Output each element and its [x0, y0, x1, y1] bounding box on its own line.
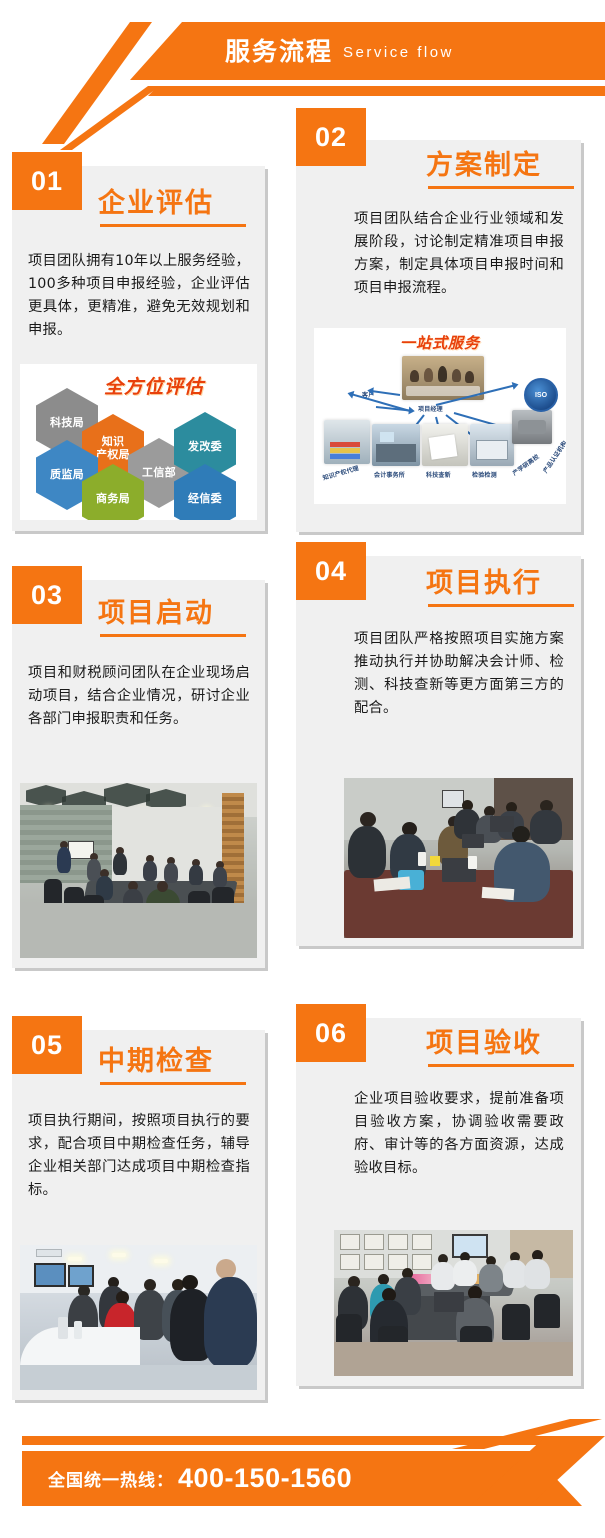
- step-badge-01: 01: [12, 152, 82, 210]
- page-footer: 全国统一热线： 400-150-1560: [0, 1418, 605, 1538]
- card-title-rule-03: [100, 634, 246, 637]
- card-title-rule-02: [428, 186, 574, 189]
- hotline-label: 全国统一热线：: [48, 1466, 174, 1491]
- service-flow-infographic: 服务流程 Service flow 企业评估 项目团队拥有10年以上服务经验，1…: [0, 0, 605, 1538]
- page-subtitle: Service flow: [343, 45, 454, 60]
- card-body-03: 项目和财税顾问团队在企业现场启动项目，结合企业情况，研讨企业各部门申报职责和任务…: [28, 662, 250, 731]
- card-body-04: 项目团队严格按照项目实施方案推动执行并协助解决会计师、检测、科技查新等更方面第三…: [354, 628, 564, 721]
- hexagon-node-label: 质监局: [50, 469, 84, 482]
- hexagon-node-label: 经信委: [188, 493, 222, 506]
- hexagon-node-label: 科技局: [50, 417, 84, 430]
- collage-label-4: 产学研高校: [510, 452, 540, 478]
- collage-label-1: 会计事务所: [374, 470, 405, 479]
- collage-node-search: [422, 424, 468, 466]
- collage-label-3: 检验检测: [472, 470, 497, 479]
- step-card-05: 中期检查 项目执行期间，按照项目执行的要求，配合项目中期检查任务，辅导企业相关部…: [12, 1030, 265, 1400]
- header-title-group: 服务流程 Service flow: [225, 30, 454, 74]
- card-body-06: 企业项目验收要求，提前准备项目验收方案，协调验收需要政府、审计等的各方面资源，达…: [354, 1088, 564, 1181]
- step-card-01: 企业评估 项目团队拥有10年以上服务经验，100多种项目申报经验，企业评估更具体…: [12, 166, 265, 531]
- step-card-04: 项目执行 项目团队严格按照项目实施方案推动执行并协助解决会计师、检测、科技查新等…: [296, 556, 581, 946]
- photo-site-inspection: [20, 1245, 257, 1390]
- card-title-05: 中期检查: [98, 1048, 214, 1075]
- card-title-01: 企业评估: [98, 190, 214, 217]
- photo-acceptance-meeting: [334, 1230, 573, 1376]
- collage-label-manager: 项目经理: [418, 404, 443, 413]
- page-header: 服务流程 Service flow: [0, 0, 605, 110]
- collage-node-certification-seal: ISO: [524, 378, 558, 412]
- page-title: 服务流程: [225, 40, 333, 65]
- step-card-06: 项目验收 企业项目验收要求，提前准备项目验收方案，协调验收需要政府、审计等的各方…: [296, 1018, 581, 1386]
- header-accent-stripe: [148, 86, 605, 96]
- collage-label-0: 知识产权代理: [321, 463, 359, 482]
- step-card-03: 项目启动 项目和财税顾问团队在企业现场启动项目，结合企业情况，研讨企业各部门申报…: [12, 580, 265, 968]
- hexagon-node-label: 发改委: [188, 441, 222, 454]
- card-body-01: 项目团队拥有10年以上服务经验，100多种项目申报经验，企业评估更具体，更精准，…: [28, 250, 250, 343]
- collage-node-university: [512, 410, 552, 444]
- hexagon-node-label: 商务局: [96, 493, 130, 506]
- card-title-rule-05: [100, 1082, 246, 1085]
- card-title-rule-06: [428, 1064, 574, 1067]
- seal-text: ISO: [535, 392, 547, 399]
- step-card-02: 方案制定 项目团队结合企业行业领域和发展阶段，讨论制定精准项目申报方案，制定具体…: [296, 140, 581, 532]
- card-title-02: 方案制定: [426, 152, 542, 179]
- collage-node-ip: [324, 420, 370, 464]
- step-badge-06: 06: [296, 1004, 366, 1062]
- collage-arrow: [372, 390, 400, 396]
- collage-node-accounting: [372, 424, 420, 466]
- hotline-group: 全国统一热线： 400-150-1560: [48, 1451, 352, 1506]
- collage-label-2: 科技查新: [426, 470, 451, 479]
- hexagon-node-label: 知识 产权局: [96, 436, 130, 461]
- step-badge-04: 04: [296, 542, 366, 600]
- step-badge-03: 03: [12, 566, 82, 624]
- hexagon-chart-title: 全方位评估: [104, 372, 204, 399]
- card-title-rule-01: [100, 224, 246, 227]
- one-stop-service-collage: 一站式服务 客户 项目经理: [314, 328, 566, 504]
- card-title-04: 项目执行: [426, 570, 542, 597]
- card-body-02: 项目团队结合企业行业领域和发展阶段，讨论制定精准项目申报方案，制定具体项目申报时…: [354, 208, 564, 301]
- hexagon-assessment-chart: 全方位评估 科技局 知识 产权局 质监局 工信部 商务局 发改委 经信委: [20, 364, 257, 520]
- step-badge-02: 02: [296, 108, 366, 166]
- photo-boardroom-kickoff: [20, 783, 257, 958]
- collage-node-testing: [470, 424, 514, 466]
- hexagon-node-label: 工信部: [142, 467, 176, 480]
- collage-title: 一站式服务: [314, 332, 566, 353]
- card-title-06: 项目验收: [426, 1030, 542, 1057]
- card-title-03: 项目启动: [98, 600, 214, 627]
- photo-working-session: [344, 778, 573, 938]
- card-title-rule-04: [428, 604, 574, 607]
- collage-center-photo: [402, 356, 484, 400]
- step-badge-05: 05: [12, 1016, 82, 1074]
- hotline-number: 400-150-1560: [178, 1463, 352, 1494]
- card-body-05: 项目执行期间，按照项目执行的要求，配合项目中期检查任务，辅导企业相关部门达成项目…: [28, 1110, 250, 1203]
